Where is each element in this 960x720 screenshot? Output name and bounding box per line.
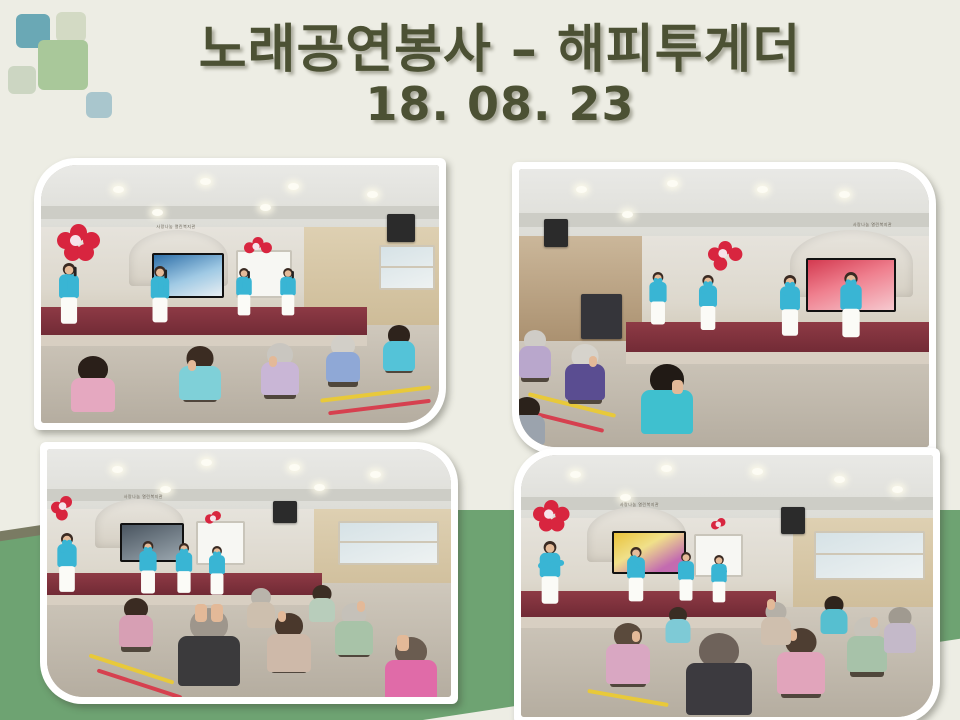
photo-bottom-right-image: 사랑나눔 열린복지관 (521, 455, 933, 717)
photo-bottom-left-image: 사랑나눔 열린복지관 (47, 449, 451, 697)
wall-sign: 사랑나눔 열린복지관 (156, 224, 195, 230)
wall-sign: 사랑나눔 열린복지관 (124, 494, 163, 500)
decor-square-green (38, 40, 88, 90)
decor-square-blue-gray (86, 92, 112, 118)
decor-square-pale-sage (56, 12, 86, 42)
photo-top-right[interactable]: 사랑나눔 열린복지관 (512, 162, 936, 454)
photo-bottom-right[interactable]: 사랑나눔 열린복지관 (514, 448, 940, 720)
photo-top-left[interactable]: 사랑나눔 열린복지관 (34, 158, 446, 430)
slide-date: 18. 08. 23 (120, 81, 880, 128)
decor-square-light-sage (8, 66, 36, 94)
slide-title-block: 노래공연봉사 – 해피투게더 18. 08. 23 (120, 24, 880, 128)
wall-sign: 사랑나눔 열린복지관 (620, 502, 659, 508)
photo-top-left-image: 사랑나눔 열린복지관 (41, 165, 439, 423)
wall-sign: 사랑나눔 열린복지관 (853, 222, 892, 228)
photo-bottom-left[interactable]: 사랑나눔 열린복지관 (40, 442, 458, 704)
photo-top-right-image: 사랑나눔 열린복지관 (519, 169, 929, 447)
page-title: 노래공연봉사 – 해피투게더 (120, 24, 880, 77)
slide-canvas: 노래공연봉사 – 해피투게더 18. 08. 23 사랑나눔 열린복지관 (0, 0, 960, 720)
